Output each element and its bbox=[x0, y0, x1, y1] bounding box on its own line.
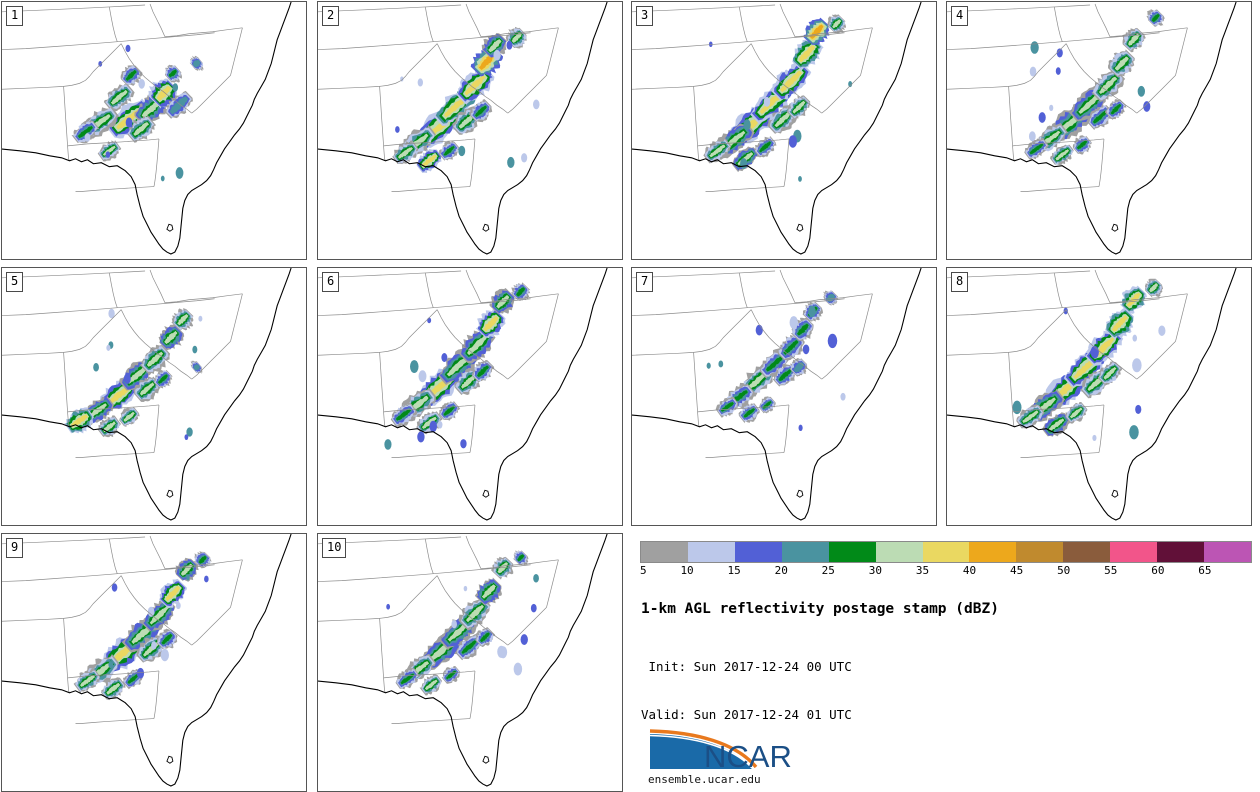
map-canvas-4 bbox=[947, 2, 1251, 259]
colorbar-tick-25: 25 bbox=[822, 564, 835, 577]
map-canvas-2 bbox=[318, 2, 622, 259]
map-panel-member-7[interactable]: 7 bbox=[631, 267, 937, 526]
panel-label-4: 4 bbox=[951, 6, 968, 26]
map-panel-member-10[interactable]: 10 bbox=[317, 533, 623, 792]
map-canvas-10 bbox=[318, 534, 622, 791]
panel-label-9: 9 bbox=[6, 538, 23, 558]
colorbar-tick-65: 65 bbox=[1198, 564, 1211, 577]
map-panel-member-8[interactable]: 8 bbox=[946, 267, 1252, 526]
map-canvas-1 bbox=[2, 2, 306, 259]
colorbar-swatch-blue bbox=[735, 542, 782, 562]
panel-label-5: 5 bbox=[6, 272, 23, 292]
colorbar-tick-20: 20 bbox=[775, 564, 788, 577]
map-panel-member-4[interactable]: 4 bbox=[946, 1, 1252, 260]
init-time: Init: Sun 2017-12-24 00 UTC bbox=[641, 659, 1241, 675]
colorbar-tick-35: 35 bbox=[916, 564, 929, 577]
ncar-logo-text: NCAR bbox=[704, 739, 792, 772]
colorbar-swatch-pink bbox=[1110, 542, 1157, 562]
figure-title: 1-km AGL reflectivity postage stamp (dBZ… bbox=[641, 601, 1241, 617]
panel-label-3: 3 bbox=[636, 6, 653, 26]
ncar-logo: NCAR ensemble.ucar.edu bbox=[648, 728, 796, 786]
colorbar-swatch-green bbox=[829, 542, 876, 562]
colorbar-swatch-orange bbox=[969, 542, 1016, 562]
valid-time: Valid: Sun 2017-12-24 01 UTC bbox=[641, 707, 1241, 723]
panel-label-2: 2 bbox=[322, 6, 339, 26]
map-panel-member-1[interactable]: 1 bbox=[1, 1, 307, 260]
map-panel-member-9[interactable]: 9 bbox=[1, 533, 307, 792]
colorbar-swatch-dark-gold bbox=[1016, 542, 1063, 562]
map-panel-member-5[interactable]: 5 bbox=[1, 267, 307, 526]
colorbar-tick-55: 55 bbox=[1104, 564, 1117, 577]
colorbar-tick-50: 50 bbox=[1057, 564, 1070, 577]
colorbar-tick-5: 5 bbox=[640, 564, 647, 577]
colorbar-swatches bbox=[640, 541, 1252, 563]
ncar-logo-mark: NCAR bbox=[648, 728, 796, 772]
colorbar-tick-10: 10 bbox=[680, 564, 693, 577]
colorbar-tick-30: 30 bbox=[869, 564, 882, 577]
map-canvas-5 bbox=[2, 268, 306, 525]
map-canvas-9 bbox=[2, 534, 306, 791]
colorbar-swatch-pale-green bbox=[876, 542, 923, 562]
colorbar-tick-labels: 5101520253035404550556065 bbox=[640, 564, 1252, 580]
panel-label-1: 1 bbox=[6, 6, 23, 26]
map-canvas-3 bbox=[632, 2, 936, 259]
colorbar-swatch-yellow bbox=[923, 542, 970, 562]
colorbar-swatch-dark-maroon bbox=[1157, 542, 1204, 562]
colorbar: 5101520253035404550556065 bbox=[640, 541, 1252, 580]
map-canvas-7 bbox=[632, 268, 936, 525]
map-panel-member-3[interactable]: 3 bbox=[631, 1, 937, 260]
map-panel-member-2[interactable]: 2 bbox=[317, 1, 623, 260]
colorbar-tick-40: 40 bbox=[963, 564, 976, 577]
panel-label-10: 10 bbox=[322, 538, 346, 558]
logo-url: ensemble.ucar.edu bbox=[648, 773, 796, 786]
colorbar-swatch-magenta bbox=[1204, 542, 1251, 562]
map-canvas-8 bbox=[947, 268, 1251, 525]
panel-label-6: 6 bbox=[322, 272, 339, 292]
map-panel-member-6[interactable]: 6 bbox=[317, 267, 623, 526]
map-canvas-6 bbox=[318, 268, 622, 525]
colorbar-swatch-teal bbox=[782, 542, 829, 562]
colorbar-swatch-gray bbox=[641, 542, 688, 562]
colorbar-tick-15: 15 bbox=[728, 564, 741, 577]
colorbar-tick-45: 45 bbox=[1010, 564, 1023, 577]
colorbar-swatch-brown bbox=[1063, 542, 1110, 562]
colorbar-tick-60: 60 bbox=[1151, 564, 1164, 577]
colorbar-swatch-light-blue bbox=[688, 542, 735, 562]
panel-label-8: 8 bbox=[951, 272, 968, 292]
panel-label-7: 7 bbox=[636, 272, 653, 292]
